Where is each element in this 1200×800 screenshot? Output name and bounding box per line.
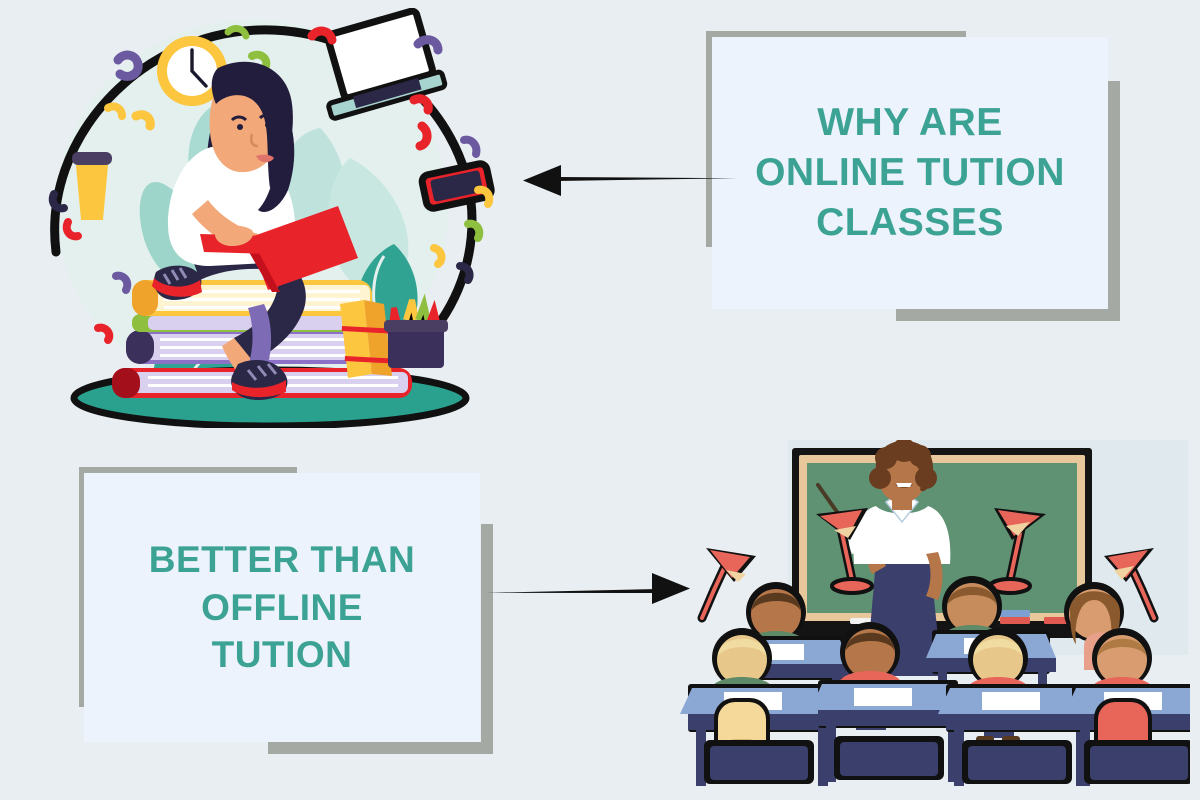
card-panel[interactable]: BETTER THAN OFFLINE TUTION — [84, 473, 480, 742]
card-panel[interactable]: WHY ARE ONLINE TUTION CLASSES — [712, 37, 1108, 309]
chair — [962, 740, 1072, 784]
arrow-to-online-learning — [505, 150, 745, 210]
chair — [1084, 740, 1190, 784]
card-title-online: WHY ARE ONLINE TUTION CLASSES — [755, 98, 1065, 248]
card-shadow-right — [1108, 81, 1120, 321]
card-shadow-bottom — [896, 309, 1120, 321]
pencil-cup — [384, 300, 448, 368]
chair — [704, 740, 814, 784]
infographic-canvas: WHY ARE ONLINE TUTION CLASSES BETTER THA… — [0, 0, 1200, 800]
classroom-illustration — [680, 440, 1190, 790]
card-better-than-offline-tution[interactable]: BETTER THAN OFFLINE TUTION — [72, 462, 502, 762]
arrow-to-classroom — [480, 562, 700, 622]
card-title-offline: BETTER THAN OFFLINE TUTION — [149, 536, 416, 678]
chair — [834, 736, 944, 780]
card-why-are-online-tution-classes[interactable]: WHY ARE ONLINE TUTION CLASSES — [700, 25, 1130, 330]
card-shadow-bottom — [268, 742, 493, 754]
card-shadow-right — [481, 524, 493, 754]
online-learning-illustration — [20, 8, 520, 428]
